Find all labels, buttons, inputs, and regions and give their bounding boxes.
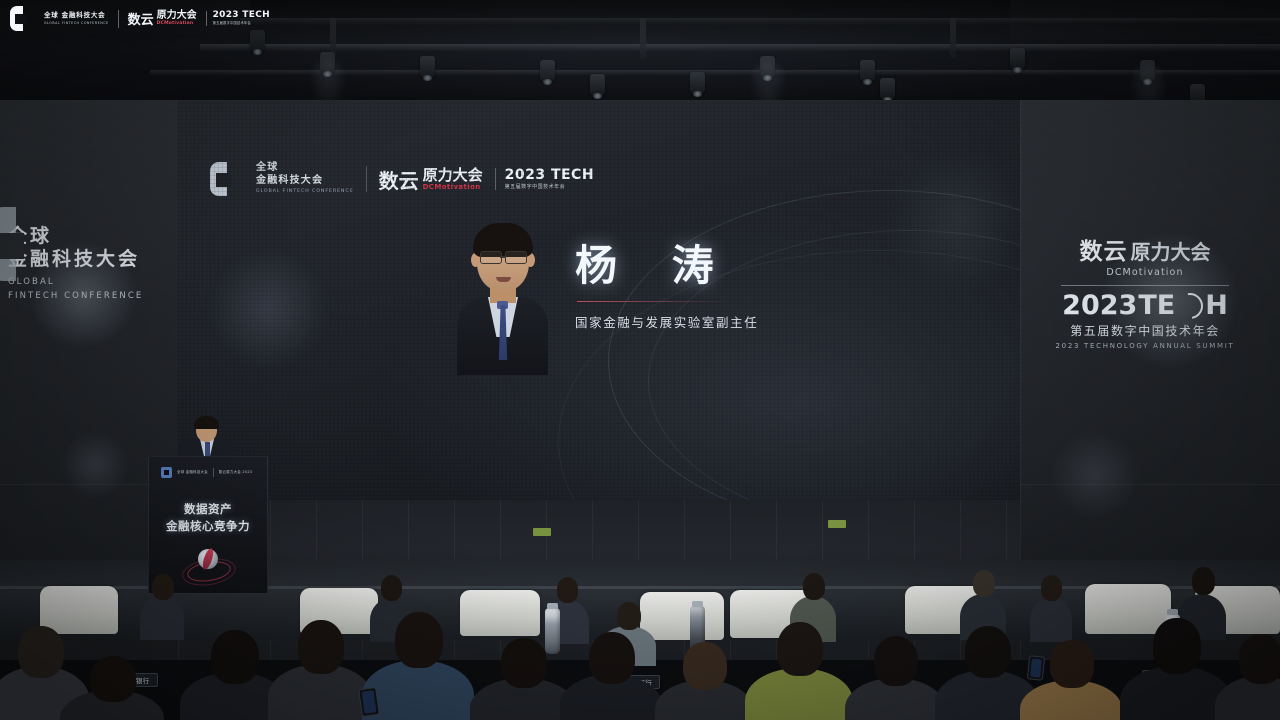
audience-person — [140, 568, 184, 638]
led-gfc-en: GLOBAL FINTECH CONFERENCE — [256, 189, 354, 196]
audience-person-front — [60, 656, 164, 720]
led-gfc-cn2: 金融科技大会 — [256, 175, 354, 188]
led-brand-en: DCMotivation — [423, 184, 483, 191]
podium-title-line2: 金融核心竞争力 — [149, 518, 267, 535]
right-wall-cn-title: 第五届数字中国技术年会 — [1055, 322, 1235, 339]
right-wall-tech-b: H — [1205, 292, 1228, 319]
led-brand-logo: 数云 原力大会 DCMotivation — [379, 165, 483, 194]
audience-person-front — [268, 620, 372, 720]
led-event-logo-bar: 全球 金融科技大会 GLOBAL FINTECH CONFERENCE 数云 原… — [210, 162, 594, 196]
podium-title-line1: 数据资产 — [149, 501, 267, 518]
watermark-brand-main: 数云 — [128, 9, 154, 28]
led-gfc-cn1: 全球 — [256, 162, 354, 175]
podium-logo-row: 全球 金融科技大会 数云原力大会 2023 — [161, 467, 252, 478]
watermark-year: 2023 TECH — [213, 11, 270, 21]
audience-person-front — [845, 636, 945, 720]
speaker-title: 国家金融与发展实验室副主任 — [575, 312, 825, 331]
right-wall-en-title: 2023 TECHNOLOGY ANNUAL SUMMIT — [1055, 342, 1235, 350]
divider — [118, 10, 119, 28]
left-wall-en-line2: FINTECH CONFERENCE — [8, 290, 168, 302]
podium-logo-cn: 全球 金融科技大会 — [177, 470, 208, 475]
watermark-year-badge: 2023 TECH 第五届数字中国技术年会 — [206, 11, 270, 25]
divider — [1061, 285, 1229, 286]
smartphone — [1027, 655, 1045, 681]
divider — [366, 166, 367, 192]
watermark-brand: 数云 原力大会 DCMotivation — [128, 9, 197, 28]
right-wall-brand-en: DCMotivation — [1055, 267, 1235, 278]
watermark-year-sub: 第五届数字中国技术年会 — [213, 22, 270, 26]
divider — [213, 468, 214, 477]
audience-person-front — [560, 632, 662, 720]
status-led — [828, 520, 846, 528]
broadcast-watermark: 全球 金融科技大会 GLOBAL FINTECH CONFERENCE 数云 原… — [10, 6, 270, 31]
watermark-gfc-en: GLOBAL FINTECH CONFERENCE — [44, 21, 109, 26]
watermark-brand-sub: 原力大会 — [157, 11, 197, 21]
speaker-name: 杨 涛 — [575, 245, 825, 287]
led-brand-main: 数云 — [379, 165, 419, 194]
speaker-portrait — [455, 225, 550, 375]
led-nebula-graphic — [208, 250, 328, 370]
right-wall-tech-a: TE — [1138, 292, 1175, 319]
watermark-brand-en: DCMotivation — [157, 22, 197, 27]
left-wall-logo: 全球 金融科技大会 GLOBAL FINTECH CONFERENCE — [8, 225, 168, 302]
wall-nebula-graphic — [1050, 430, 1140, 520]
watermark-gfc-cn: 全球 金融科技大会 — [44, 11, 109, 19]
audience-person-front — [1215, 634, 1280, 720]
status-led — [533, 528, 551, 536]
right-wall-logo: 数云 原力大会 DCMotivation 2023 TE H 第五届数字中国技术… — [1055, 232, 1235, 350]
gfc-mark-icon — [161, 467, 172, 478]
audience-person-front — [362, 612, 474, 720]
podium-title: 数据资产 金融核心竞争力 — [149, 501, 267, 534]
name-underline — [577, 301, 727, 302]
wall-seam — [1020, 484, 1280, 485]
swoosh-icon — [1172, 287, 1208, 323]
right-wall-year: 2023 — [1062, 292, 1137, 319]
led-brand-sub: 原力大会 — [423, 168, 483, 183]
gfc-mark-icon — [210, 162, 244, 196]
right-wall-tech-year: 2023 TE H — [1055, 292, 1235, 319]
audience-person-front — [745, 622, 853, 720]
right-wall-brand-main: 数云 — [1080, 232, 1128, 266]
smartphone — [358, 687, 380, 717]
conference-stage-scene: 全球 金融科技大会 GLOBAL FINTECH CONFERENCE 数云 原… — [0, 0, 1280, 720]
speaker-name-block: 杨 涛 国家金融与发展实验室副主任 — [575, 245, 825, 331]
wall-nebula-graphic — [60, 430, 130, 500]
right-wall-brand-sub: 原力大会 — [1131, 236, 1211, 265]
gfc-mark-icon — [0, 207, 42, 281]
gfc-mark-icon — [10, 6, 35, 31]
audience-area: 中国民生银行 中国进出口银行 中信银行 — [0, 560, 1280, 720]
podium-logo-right: 数云原力大会 2023 — [219, 470, 252, 475]
led-year-sub: 第五届数字中国技术年会 — [505, 185, 594, 191]
audience-person-front — [655, 642, 753, 720]
led-year-badge: 2023 TECH 第五届数字中国技术年会 — [495, 168, 594, 191]
led-year: 2023 TECH — [505, 168, 594, 183]
